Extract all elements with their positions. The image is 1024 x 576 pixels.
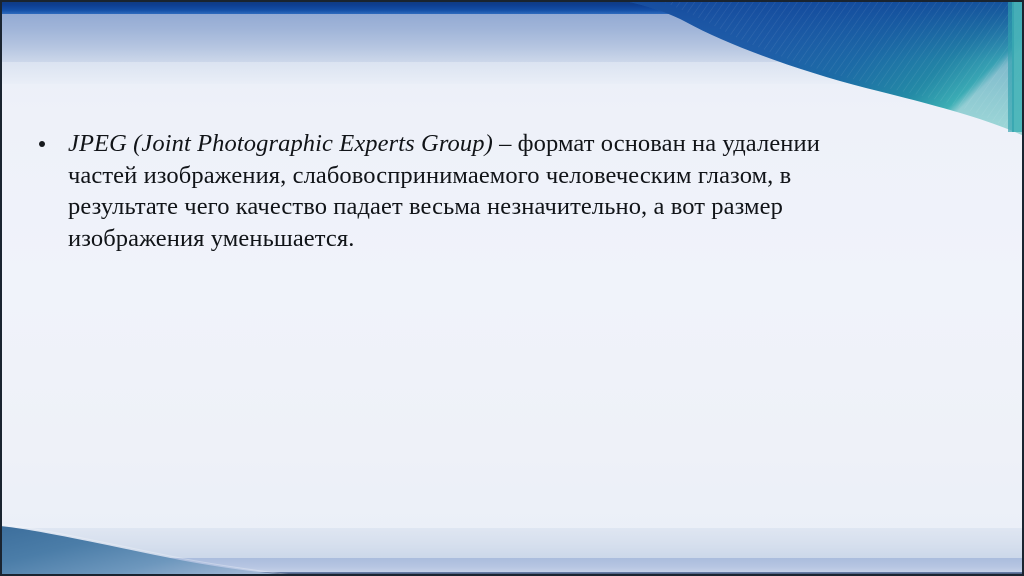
- slide-body: JPEG (Joint Photographic Experts Group) …: [30, 128, 880, 254]
- top-navy-band: [0, 0, 1024, 14]
- top-grey-band: [0, 14, 1024, 62]
- bottom-edge-line: [0, 572, 1024, 576]
- swoosh-shade: [620, 0, 1024, 136]
- bottom-band-blue: [0, 558, 1024, 572]
- wedge-shape: [0, 526, 300, 576]
- top-band-fade: [0, 62, 1024, 84]
- bullet-term: JPEG (Joint Photographic Experts Group): [68, 130, 493, 157]
- bullet-marker-icon: [39, 141, 45, 147]
- slide-frame-border: [0, 0, 1024, 576]
- swoosh-shape: [620, 0, 1024, 136]
- slide-background: [0, 0, 1024, 576]
- swoosh-teal-edge-inner: [1008, 0, 1014, 132]
- bullet-list-item: JPEG (Joint Photographic Experts Group) …: [30, 128, 880, 254]
- wedge-highlight: [0, 524, 300, 576]
- bottom-band-light: [0, 528, 1024, 558]
- swoosh-teal-edge: [1012, 0, 1024, 132]
- bottom-left-wedge-decoration: [0, 500, 420, 576]
- presentation-slide: JPEG (Joint Photographic Experts Group) …: [0, 0, 1024, 576]
